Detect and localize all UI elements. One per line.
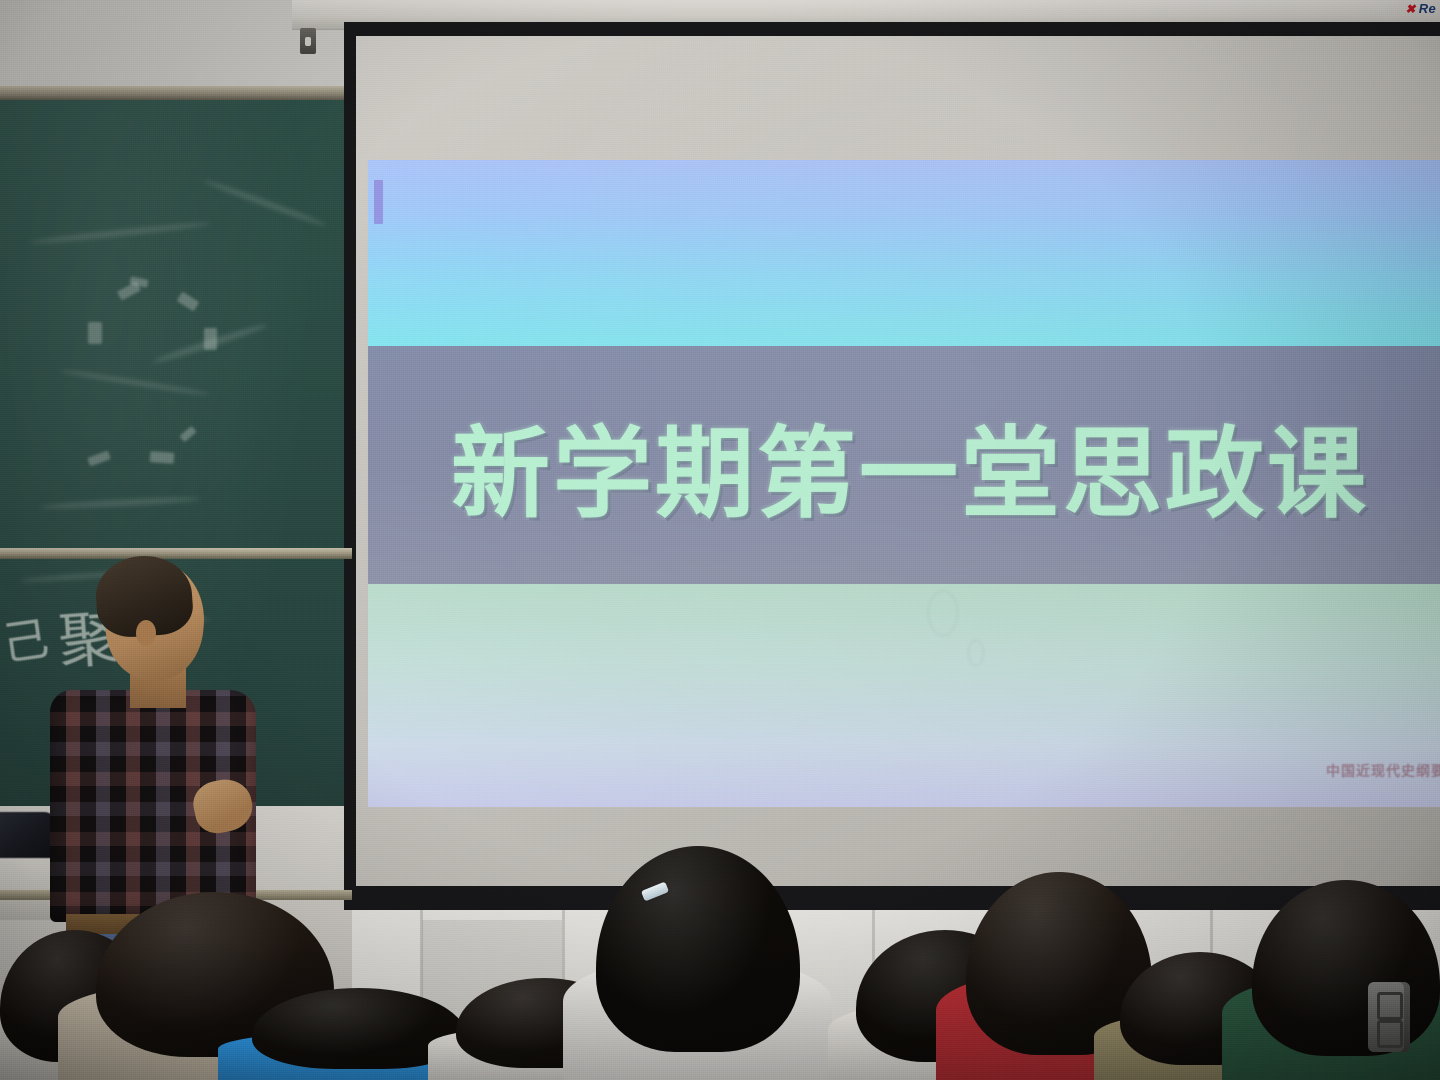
student-9-claw-clip <box>1252 880 1440 1080</box>
chalkboard-middle-rail <box>0 548 352 559</box>
classroom-photo-scene: 己 聚 〃 ✖ Re 新学期第一堂思政课 中国近现代史纲要 <box>0 0 1440 1080</box>
slide-title: 新学期第一堂思政课 <box>368 350 1440 580</box>
chalk-smudge <box>87 451 111 467</box>
chalk-streak <box>203 178 327 228</box>
student-5-bob-white <box>596 846 800 1080</box>
screen-mount-bracket <box>300 28 316 54</box>
chalk-smudge <box>150 451 175 464</box>
chalk-smudge <box>177 292 200 312</box>
slide-band-top <box>368 160 1440 346</box>
student-hair <box>1252 880 1440 1056</box>
screen-brand-logo: ✖ Re <box>1405 1 1436 16</box>
projector-screen-surface: 新学期第一堂思政课 中国近现代史纲要 <box>356 36 1440 886</box>
chalk-streak <box>61 368 210 396</box>
chalk-streak <box>30 221 210 246</box>
brand-name: Re <box>1419 1 1436 16</box>
chalk-smudge <box>179 426 196 442</box>
slide-footnote: 中国近现代史纲要 <box>1326 761 1440 781</box>
screen-blemish <box>928 590 958 636</box>
instructor-ear <box>136 620 156 646</box>
projected-slide: 新学期第一堂思政课 中国近现代史纲要 <box>368 160 1440 807</box>
brand-mark-icon: ✖ <box>1405 3 1415 15</box>
hair-claw-clip <box>1368 982 1410 1052</box>
chalkboard-top-rail <box>0 86 352 100</box>
student-hair <box>596 846 800 1052</box>
screen-blemish <box>968 640 984 666</box>
chalk-streak <box>40 496 200 510</box>
slide-band-bottom <box>368 584 1440 807</box>
slide-edge-marker <box>374 180 383 224</box>
chalk-smudge <box>88 322 102 344</box>
